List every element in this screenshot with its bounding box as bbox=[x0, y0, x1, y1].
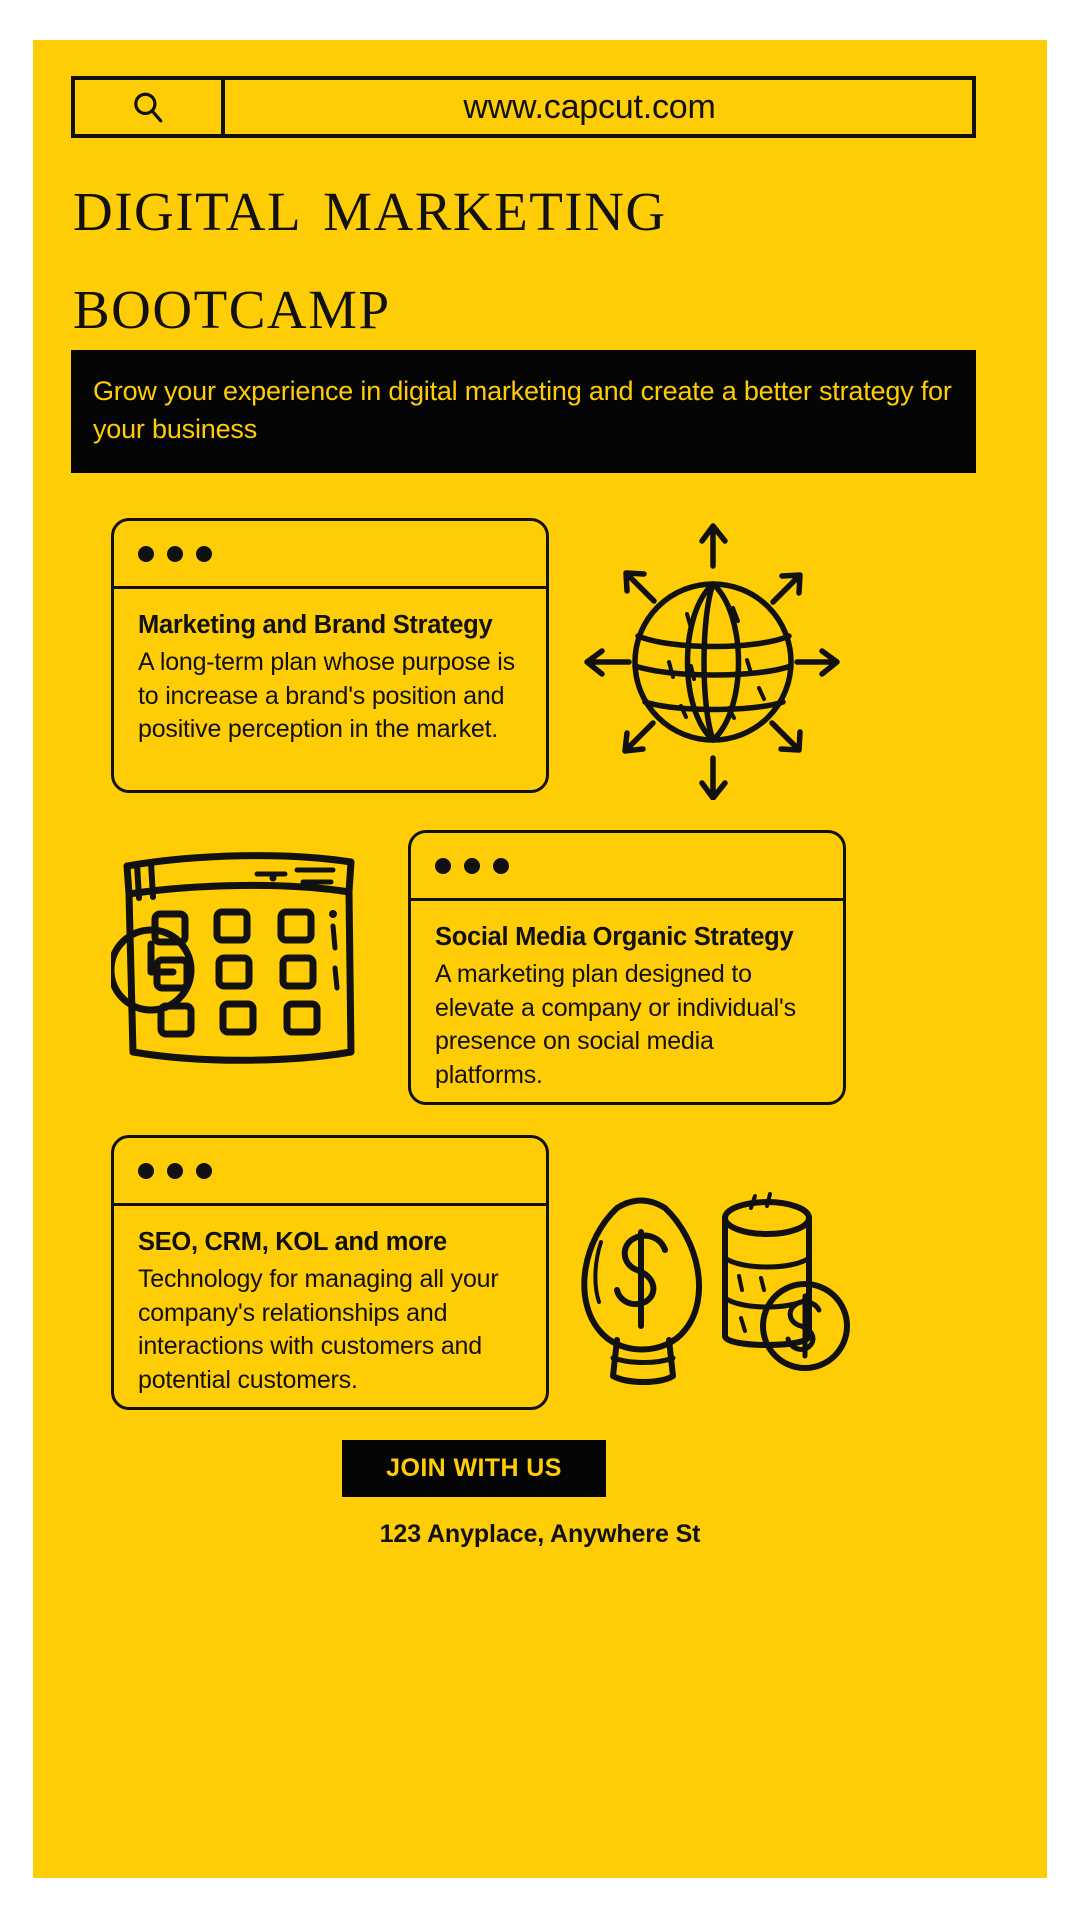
card-titlebar bbox=[114, 1138, 546, 1206]
card-description: Technology for managing all your company… bbox=[138, 1263, 524, 1397]
window-dot-icon bbox=[464, 858, 480, 874]
card-heading: SEO, CRM, KOL and more bbox=[138, 1228, 524, 1257]
subtitle-banner: Grow your experience in digital marketin… bbox=[71, 350, 976, 473]
card-titlebar bbox=[411, 833, 843, 901]
window-dot-icon bbox=[196, 1163, 212, 1179]
page-title: Digital Marketing Bootcamp bbox=[73, 155, 993, 352]
card-body: Social Media Organic Strategy A marketin… bbox=[411, 901, 843, 1108]
window-dot-icon bbox=[167, 546, 183, 562]
card-titlebar bbox=[114, 521, 546, 589]
join-with-us-button[interactable]: JOIN WITH US bbox=[342, 1440, 606, 1497]
card-description: A long-term plan whose purpose is to inc… bbox=[138, 646, 524, 747]
money-bag-and-coins-illustration bbox=[561, 1180, 851, 1395]
card-body: SEO, CRM, KOL and more Technology for ma… bbox=[114, 1206, 546, 1413]
page-title-line-1: Digital Marketing bbox=[73, 155, 993, 253]
join-with-us-label: JOIN WITH US bbox=[386, 1454, 562, 1483]
feature-card-social-media-organic-strategy: Social Media Organic Strategy A marketin… bbox=[408, 830, 846, 1105]
url-input[interactable]: www.capcut.com bbox=[225, 80, 972, 134]
window-dot-icon bbox=[138, 1163, 154, 1179]
window-dot-icon bbox=[493, 858, 509, 874]
window-dot-icon bbox=[138, 546, 154, 562]
globe-with-arrows-illustration bbox=[561, 510, 861, 800]
url-text: www.capcut.com bbox=[463, 88, 715, 127]
page-title-line-2: Bootcamp bbox=[73, 253, 993, 351]
card-heading: Social Media Organic Strategy bbox=[435, 923, 821, 952]
address-text: 123 Anyplace, Anywhere St bbox=[33, 1520, 1047, 1549]
poster-canvas: www.capcut.com Digital Marketing Bootcam… bbox=[33, 40, 1047, 1878]
window-dot-icon bbox=[435, 858, 451, 874]
subtitle-text: Grow your experience in digital marketin… bbox=[93, 372, 956, 449]
url-bar[interactable]: www.capcut.com bbox=[71, 76, 976, 138]
card-heading: Marketing and Brand Strategy bbox=[138, 611, 524, 640]
feature-card-marketing-brand-strategy: Marketing and Brand Strategy A long-term… bbox=[111, 518, 549, 793]
search-button[interactable] bbox=[75, 80, 225, 134]
search-icon bbox=[131, 90, 165, 124]
feature-card-seo-crm-kol: SEO, CRM, KOL and more Technology for ma… bbox=[111, 1135, 549, 1410]
card-body: Marketing and Brand Strategy A long-term… bbox=[114, 589, 546, 763]
window-dot-icon bbox=[167, 1163, 183, 1179]
calendar-with-clock-illustration bbox=[111, 830, 371, 1080]
window-dot-icon bbox=[196, 546, 212, 562]
poster-root: www.capcut.com Digital Marketing Bootcam… bbox=[0, 0, 1080, 1920]
card-description: A marketing plan designed to elevate a c… bbox=[435, 958, 821, 1092]
